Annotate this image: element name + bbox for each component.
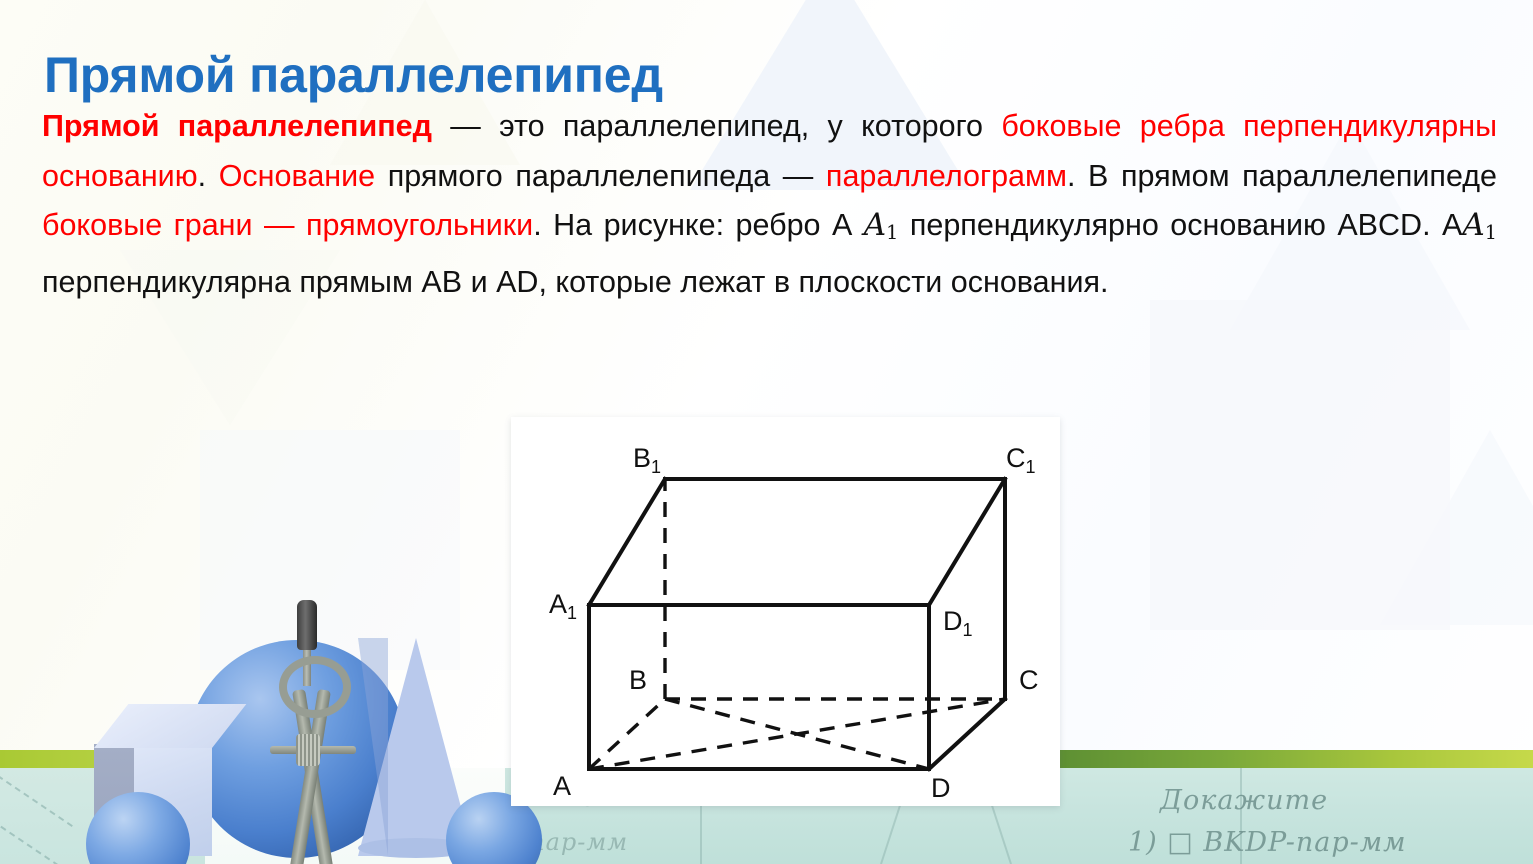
green-accent-bar-right — [1060, 750, 1533, 768]
body-seg-11: А — [832, 208, 864, 242]
body-seg-2: — это параллелепипед, у которого — [432, 109, 1001, 143]
edge-A1-B1 — [589, 479, 665, 605]
vertex-label-A1: A1 — [549, 589, 577, 623]
term-base: Основание — [219, 159, 375, 193]
body-seg-13: перпендикулярно основанию ABCD. А — [898, 208, 1462, 242]
decorative-3d-shapes — [0, 564, 540, 864]
vertex-label-D1: D1 — [943, 606, 973, 640]
body-seg-15: перпендикулярна прямым AB и AD, которые … — [42, 265, 1108, 299]
edge-C1-D1 — [929, 479, 1005, 605]
body-seg-6: прямого параллелепипеда — — [375, 159, 826, 193]
body-seg-4: . — [198, 159, 219, 193]
handwriting-line-1: Докажите — [1160, 785, 1328, 816]
figure-panel: A1 B1 C1 D1 A B C D — [511, 417, 1060, 806]
vertex-label-A: A — [553, 771, 571, 801]
math-var-A1-second: A1 — [1462, 207, 1497, 243]
vertex-label-C: C — [1019, 665, 1039, 695]
body-seg-10: . На рисунке: ребро — [533, 208, 832, 242]
math-var-base: A — [1462, 207, 1484, 243]
compass-handle — [297, 600, 317, 650]
vertex-labels-group: A1 B1 C1 D1 A B C D — [549, 443, 1039, 803]
math-var-subscript: 1 — [886, 221, 898, 244]
compass-ring — [279, 656, 351, 718]
math-var-base: A — [864, 207, 886, 243]
compass-knob — [296, 734, 320, 766]
vertex-label-B1: B1 — [633, 443, 661, 477]
math-var-subscript: 1 — [1485, 221, 1497, 244]
background-block — [1150, 300, 1450, 630]
parallelepiped-svg: A1 B1 C1 D1 A B C D — [511, 417, 1060, 806]
vertex-label-D: D — [931, 773, 951, 803]
math-var-A1-first: A1 — [864, 207, 899, 243]
diagonal-B-D — [665, 699, 929, 769]
term-lateral-faces-rectangles: боковые грани — прямоугольники — [42, 208, 533, 242]
term-parallelogram: параллелограмм — [826, 159, 1067, 193]
compass-icon — [252, 594, 372, 864]
vertex-label-B: B — [629, 665, 647, 695]
term-right-parallelepiped: Прямой параллелепипед — [42, 109, 432, 143]
edge-D-C — [929, 699, 1005, 769]
slide-root: Докажите 1) □ BKDP-пар-мм то -пар-мм Пря… — [0, 0, 1533, 864]
handwriting-line-2: 1) □ BKDP-пар-мм — [1128, 827, 1407, 858]
page-title: Прямой параллелепипед — [44, 48, 663, 102]
vertex-label-C1: C1 — [1006, 443, 1036, 477]
body-seg-8: . В прямом параллелепипеде — [1067, 159, 1497, 193]
lesson-body-text: Прямой параллелепипед — это параллелепип… — [42, 102, 1497, 307]
